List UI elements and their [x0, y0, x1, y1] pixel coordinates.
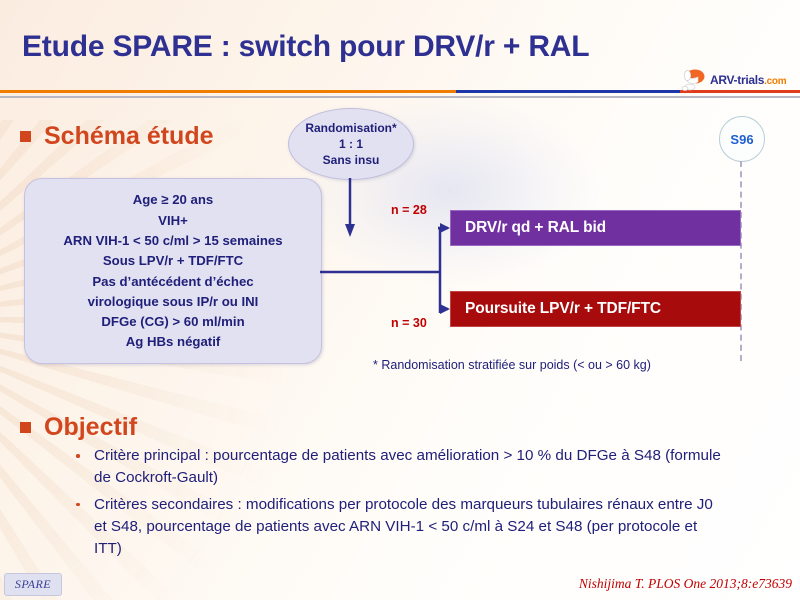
section-heading-schema-label: Schéma étude	[44, 122, 214, 151]
arm-n-control: n = 30	[391, 316, 427, 330]
capsule-icon	[678, 68, 710, 92]
list-item: Critères secondaires : modifications per…	[68, 494, 728, 560]
timepoint-marker-s96: S96	[719, 116, 765, 162]
criteria-line: VIH+	[158, 211, 188, 230]
randomisation-footnote: * Randomisation stratifiée sur poids (< …	[373, 358, 651, 372]
section-heading-objectif-label: Objectif	[44, 413, 137, 442]
treatment-arm-control-label: Poursuite LPV/r + TDF/FTC	[465, 300, 661, 318]
criteria-line: Ag HBs négatif	[126, 332, 221, 351]
section-heading-schema: Schéma étude	[20, 122, 214, 151]
treatment-arm-intervention: DRV/r qd + RAL bid	[450, 210, 741, 246]
treatment-arm-control: Poursuite LPV/r + TDF/FTC	[450, 291, 741, 327]
criteria-line: virologique sous IP/r ou INI	[88, 292, 259, 311]
logo-suffix: .com	[764, 76, 786, 87]
criteria-line: Sous LPV/r + TDF/FTC	[103, 251, 243, 270]
list-item: Critère principal : pourcentage de patie…	[68, 445, 728, 489]
timepoint-label: S96	[730, 132, 753, 147]
divider-segment-gray	[0, 96, 800, 98]
randomisation-line: Randomisation*	[305, 120, 396, 136]
criteria-line: Pas d’antécédent d’échec	[92, 272, 253, 291]
criteria-line: DFGe (CG) > 60 ml/min	[101, 312, 244, 331]
inclusion-criteria-box: Age ≥ 20 ans VIH+ ARN VIH-1 < 50 c/ml > …	[24, 178, 322, 364]
logo-text: ARV-trials.com	[710, 73, 786, 87]
divider-segment-orange	[0, 90, 456, 93]
treatment-arm-intervention-label: DRV/r qd + RAL bid	[465, 219, 606, 237]
objectives-list: Critère principal : pourcentage de patie…	[68, 445, 728, 564]
logo-name: ARV-trials	[710, 73, 764, 87]
randomisation-line: 1 : 1	[339, 136, 363, 152]
randomisation-line: Sans insu	[323, 152, 380, 168]
slide: Etude SPARE : switch pour DRV/r + RAL AR…	[0, 0, 800, 600]
square-bullet-icon	[20, 131, 31, 142]
arv-trials-logo: ARV-trials.com	[676, 68, 796, 94]
randomisation-node: Randomisation* 1 : 1 Sans insu	[288, 108, 414, 180]
study-badge: SPARE	[4, 573, 62, 596]
arm-n-intervention: n = 28	[391, 203, 427, 217]
criteria-line: ARN VIH-1 < 50 c/ml > 15 semaines	[63, 231, 282, 250]
page-title: Etude SPARE : switch pour DRV/r + RAL	[22, 30, 589, 64]
square-bullet-icon	[20, 422, 31, 433]
timepoint-dashed-line	[740, 161, 742, 361]
divider-segment-blue	[456, 90, 680, 93]
reference-citation: Nishijima T. PLOS One 2013;8:e73639	[579, 576, 792, 592]
section-heading-objectif: Objectif	[20, 413, 137, 442]
criteria-line: Age ≥ 20 ans	[133, 190, 214, 209]
